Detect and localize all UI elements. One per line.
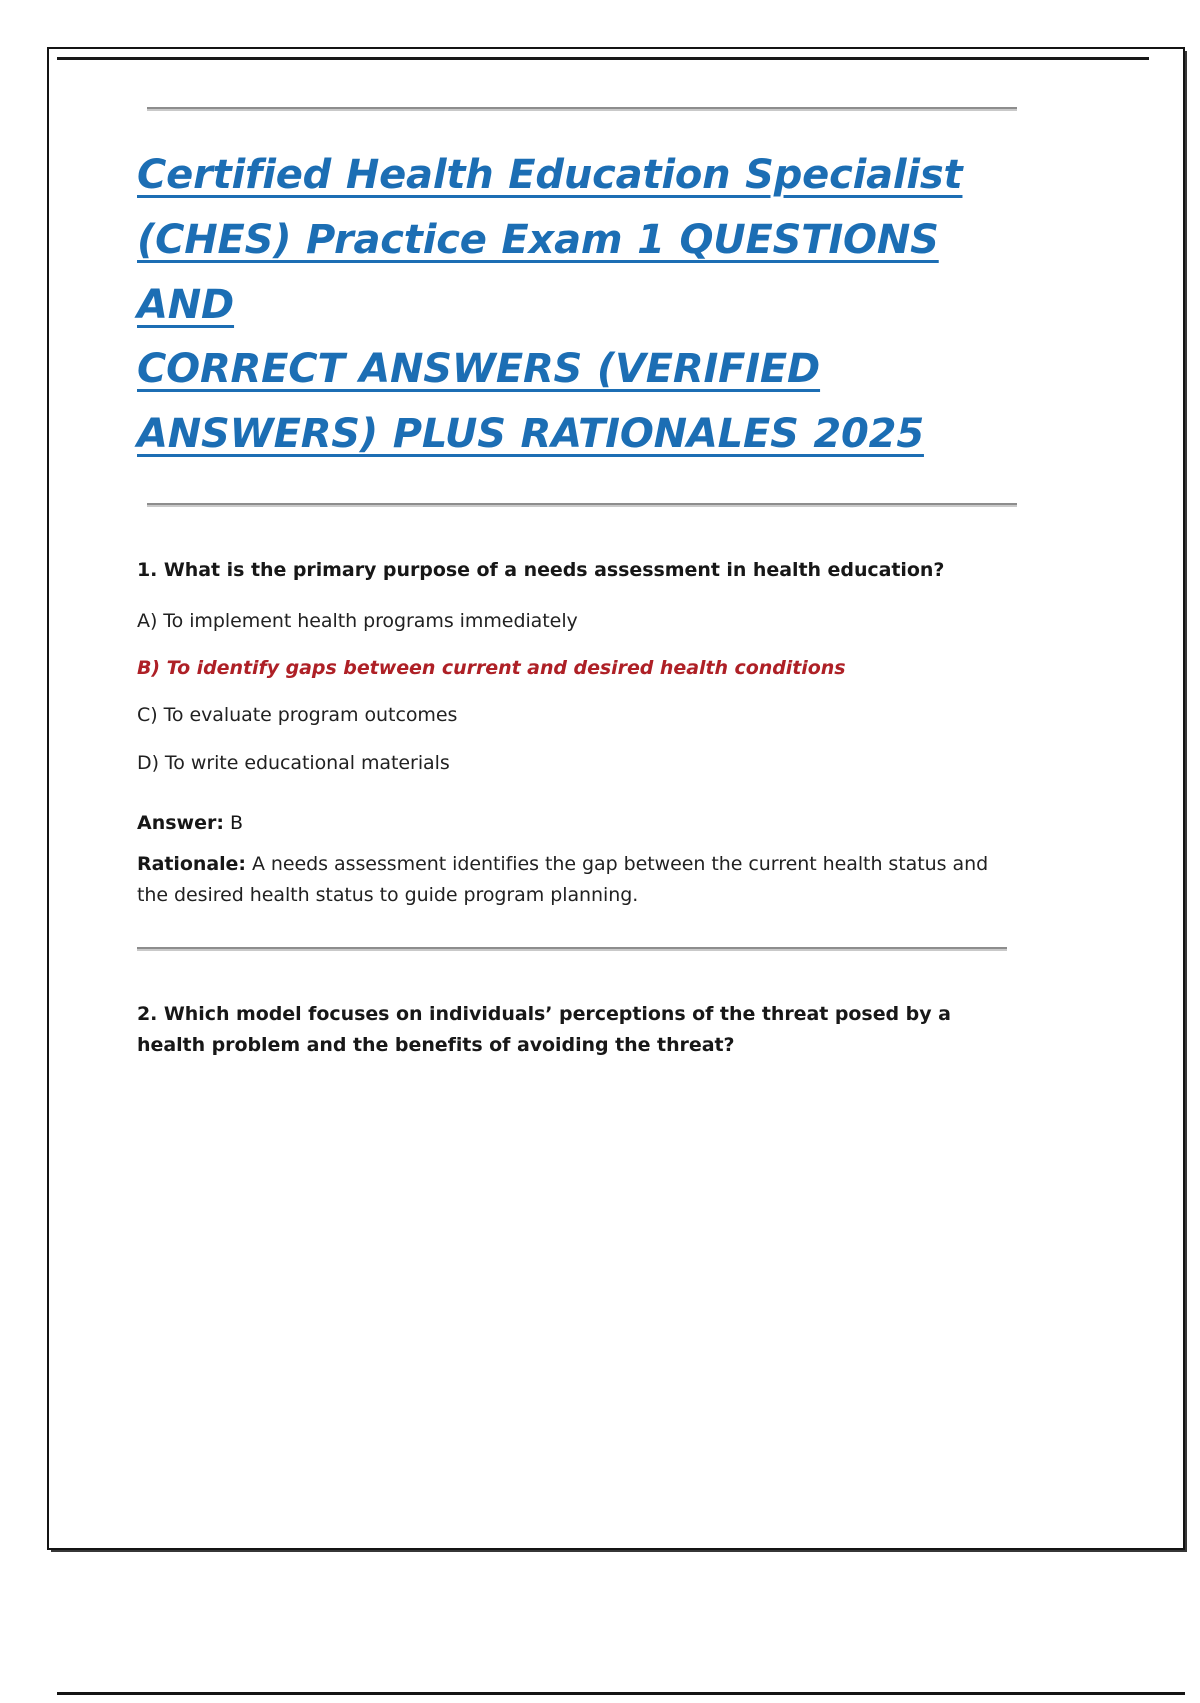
answer-label: Answer: — [137, 812, 224, 834]
title-line-4: ANSWERS) PLUS RATIONALES 2025 — [137, 411, 924, 457]
question-1-rationale: Rationale: A needs assessment identifies… — [137, 849, 1007, 911]
title-line-1: Certified Health Education Specialist — [137, 152, 962, 198]
question-1-option-c[interactable]: C) To evaluate program outcomes — [137, 703, 1007, 727]
question-1-stem: 1. What is the primary purpose of a need… — [137, 555, 1007, 586]
next-page-top-edge — [57, 1692, 1185, 1703]
rationale-text: A needs assessment identifies the gap be… — [137, 853, 988, 906]
page-content: Certified Health Education Specialist(CH… — [137, 107, 1007, 1060]
document-title: Certified Health Education Specialist(CH… — [137, 143, 1007, 467]
answer-value-letter: B — [230, 812, 243, 834]
rationale-label: Rationale: — [137, 853, 246, 875]
title-bottom-divider — [147, 503, 1017, 507]
question-2-stem: 2. Which model focuses on individuals’ p… — [137, 999, 1007, 1061]
title-line-2: (CHES) Practice Exam 1 QUESTIONS AND — [137, 217, 939, 328]
question-separator-divider — [137, 947, 1007, 951]
question-block-2: 2. Which model focuses on individuals’ p… — [137, 999, 1007, 1061]
question-1-option-d[interactable]: D) To write educational materials — [137, 751, 1007, 775]
question-1-option-a[interactable]: A) To implement health programs immediat… — [137, 609, 1007, 633]
title-line-3: CORRECT ANSWERS (VERIFIED — [137, 346, 820, 392]
title-top-divider — [147, 107, 1017, 111]
question-block-1: 1. What is the primary purpose of a need… — [137, 555, 1007, 911]
question-1-option-b[interactable]: B) To identify gaps between current and … — [137, 656, 1007, 680]
document-page: Certified Health Education Specialist(CH… — [47, 47, 1185, 1550]
question-1-answer: Answer: B — [137, 811, 1007, 835]
page-top-inner-rule — [57, 57, 1149, 60]
